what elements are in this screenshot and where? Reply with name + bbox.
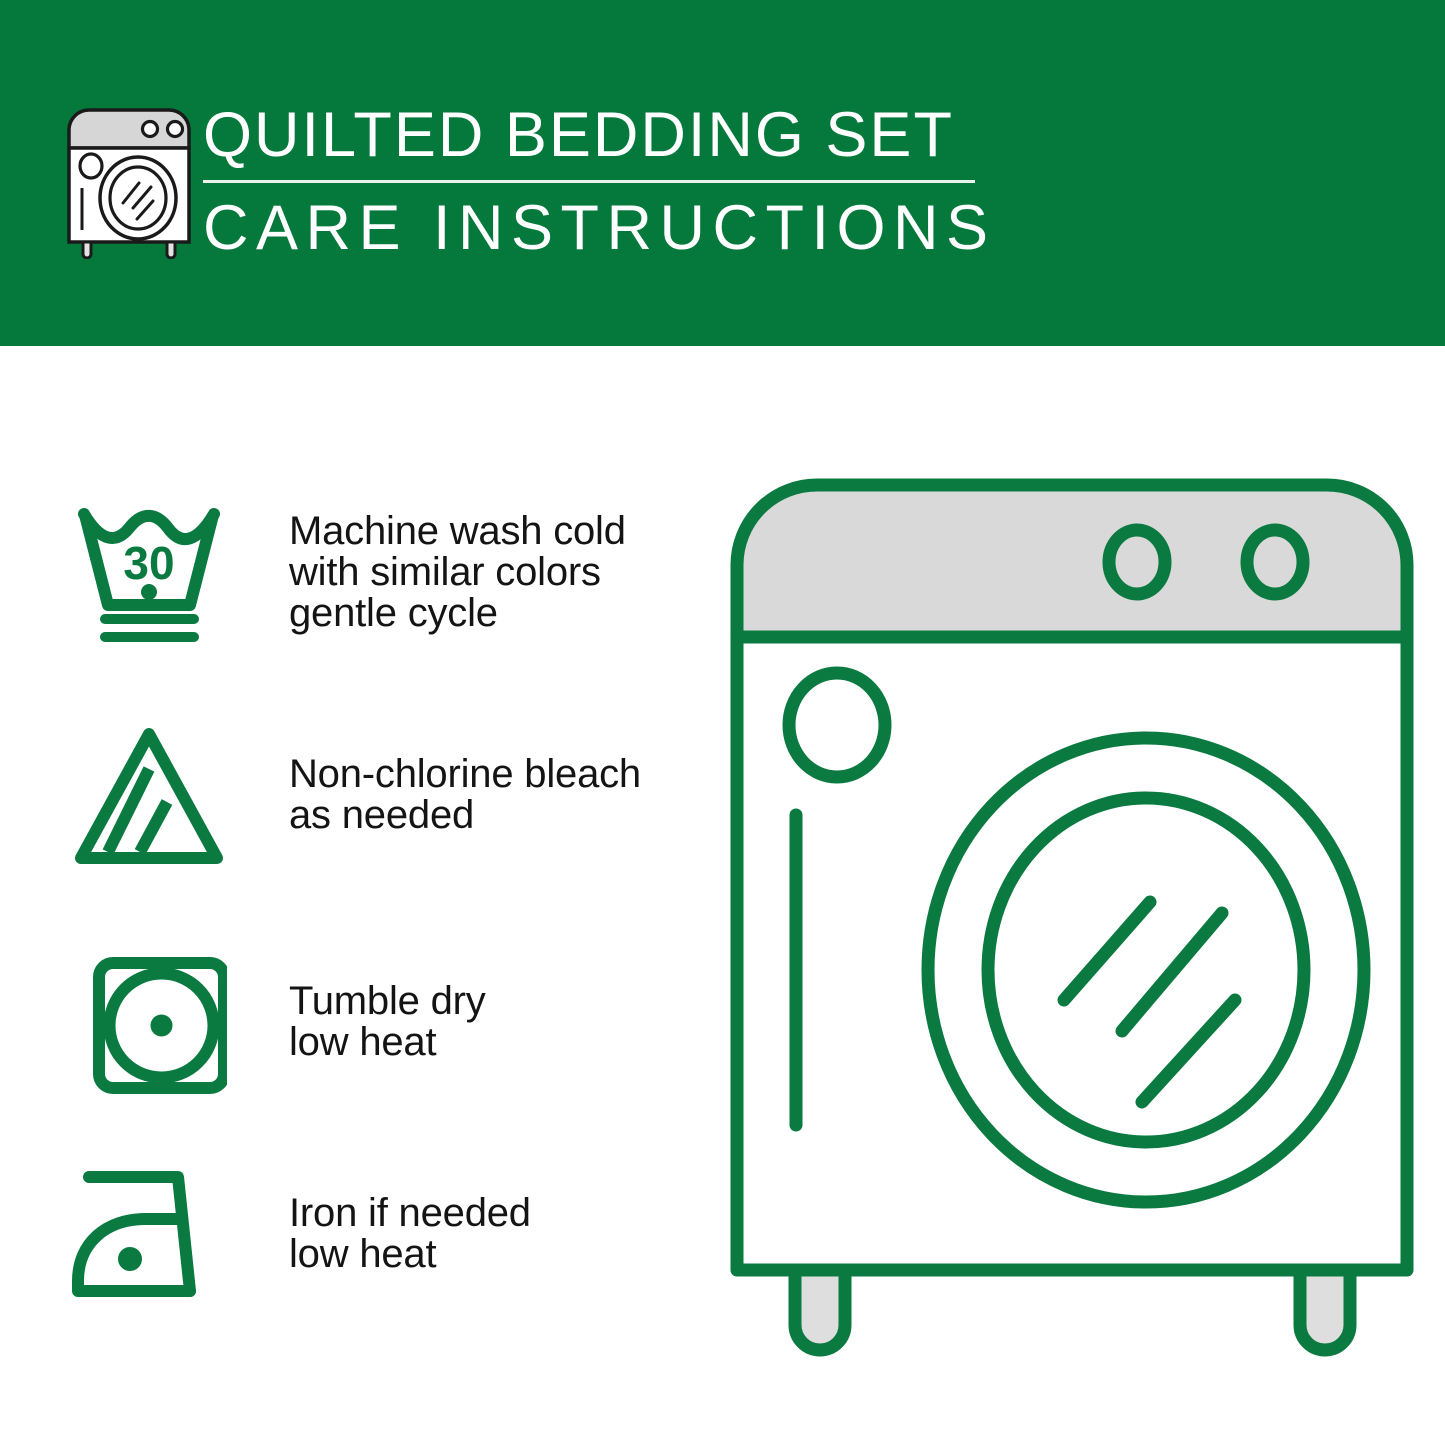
care-instruction-item: 30 Machine wash cold with similar colors… — [0, 501, 700, 651]
non-chlorine-bleach-triangle-icon — [72, 724, 227, 874]
care-instruction-text: Non-chlorine bleach as needed — [289, 754, 689, 836]
care-text-line: low heat — [289, 1234, 689, 1275]
care-instruction-item: Non-chlorine bleach as needed — [0, 724, 700, 874]
care-text-line: low heat — [289, 1022, 689, 1063]
machine-knob-left — [1109, 530, 1165, 594]
wash-temperature-value: 30 — [123, 537, 174, 589]
wash-tub-30-gentle-icon: 30 — [72, 501, 227, 651]
tumble-dry-low-heat-icon — [72, 951, 227, 1101]
header-band: QUILTED BEDDING SET CARE INSTRUCTIONS — [0, 0, 1445, 346]
care-instruction-item: Tumble dry low heat — [0, 951, 700, 1101]
machine-knob-right — [1247, 530, 1303, 594]
care-text-line: Iron if needed — [289, 1193, 689, 1234]
care-instruction-text: Iron if needed low heat — [289, 1193, 689, 1275]
care-text-line: Tumble dry — [289, 981, 689, 1022]
iron-low-heat-icon — [72, 1163, 227, 1313]
care-instruction-item: Iron if needed low heat — [0, 1163, 700, 1313]
care-instruction-text: Machine wash cold with similar colors ge… — [289, 511, 689, 634]
page-title: QUILTED BEDDING SET — [203, 96, 993, 174]
care-text-line: Machine wash cold — [289, 511, 689, 552]
machine-leg-right — [1300, 1270, 1350, 1350]
washing-machine-icon — [63, 104, 195, 259]
front-load-washing-machine-illustration — [722, 470, 1422, 1370]
care-instruction-list: 30 Machine wash cold with similar colors… — [0, 346, 700, 1445]
machine-leg-left — [795, 1270, 845, 1350]
care-instructions-page: QUILTED BEDDING SET CARE INSTRUCTIONS 30 — [0, 0, 1445, 1445]
care-text-line: Non-chlorine bleach — [289, 754, 689, 795]
header-text-block: QUILTED BEDDING SET CARE INSTRUCTIONS — [203, 96, 993, 266]
machine-dispenser-button — [789, 673, 885, 777]
care-text-line: as needed — [289, 795, 689, 836]
care-text-line: with similar colors — [289, 552, 689, 593]
care-instruction-text: Tumble dry low heat — [289, 981, 689, 1063]
care-text-line: gentle cycle — [289, 593, 689, 634]
page-subtitle: CARE INSTRUCTIONS — [203, 190, 993, 266]
header-divider — [203, 180, 975, 183]
